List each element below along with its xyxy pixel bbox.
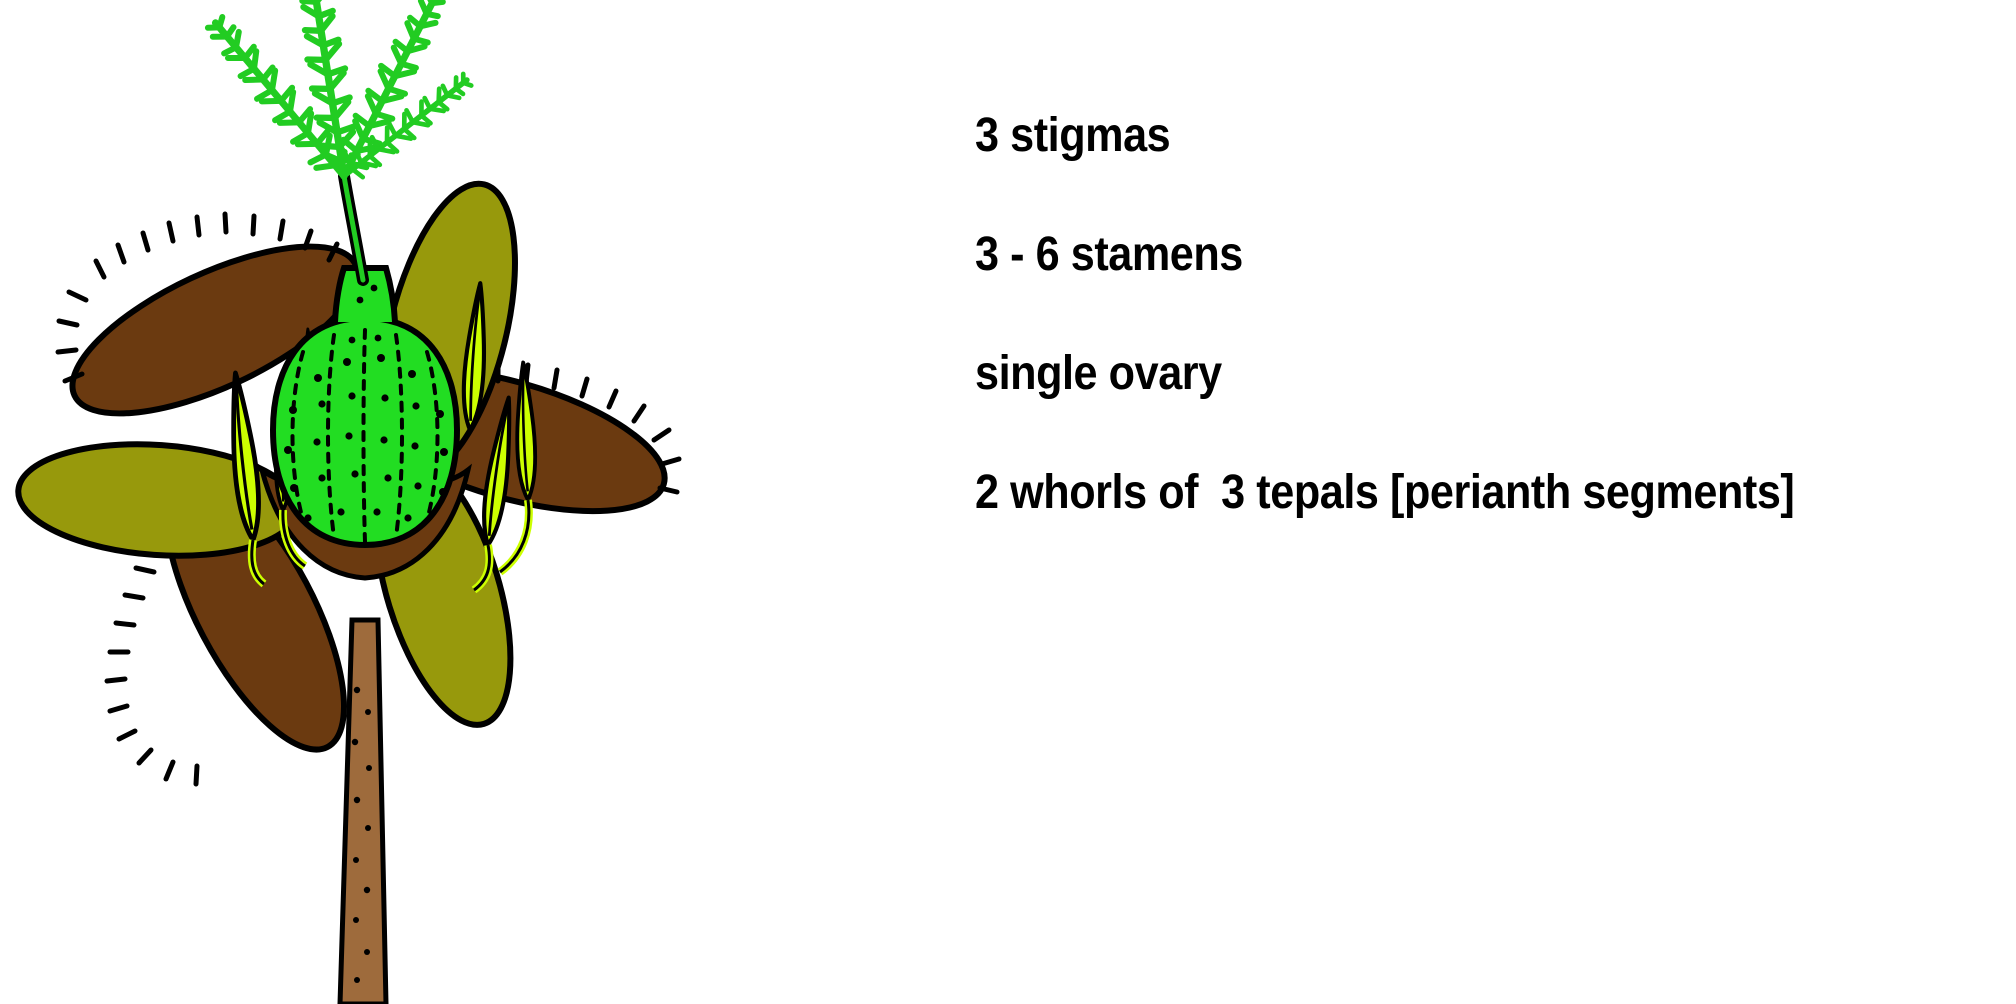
annotation-spacer (975, 162, 1995, 229)
flower-illustration (0, 0, 900, 1004)
annotation-stamens: 3 - 6 stamens (975, 229, 1893, 281)
annotation-ovary: single ovary (975, 348, 1893, 400)
pedicel-part (340, 620, 386, 1004)
annotation-stigmas: 3 stigmas (975, 110, 1893, 162)
annotation-spacer (975, 400, 1995, 467)
stigma-right-part (329, 0, 451, 184)
annotation-tepals: 2 whorls of 3 tepals [perianth segments] (975, 467, 1893, 519)
diagram-canvas: 3 stigmas 3 - 6 stamens single ovary 2 w… (0, 0, 2016, 1004)
annotation-list: 3 stigmas 3 - 6 stamens single ovary 2 w… (975, 110, 1995, 519)
annotation-spacer (975, 281, 1995, 348)
